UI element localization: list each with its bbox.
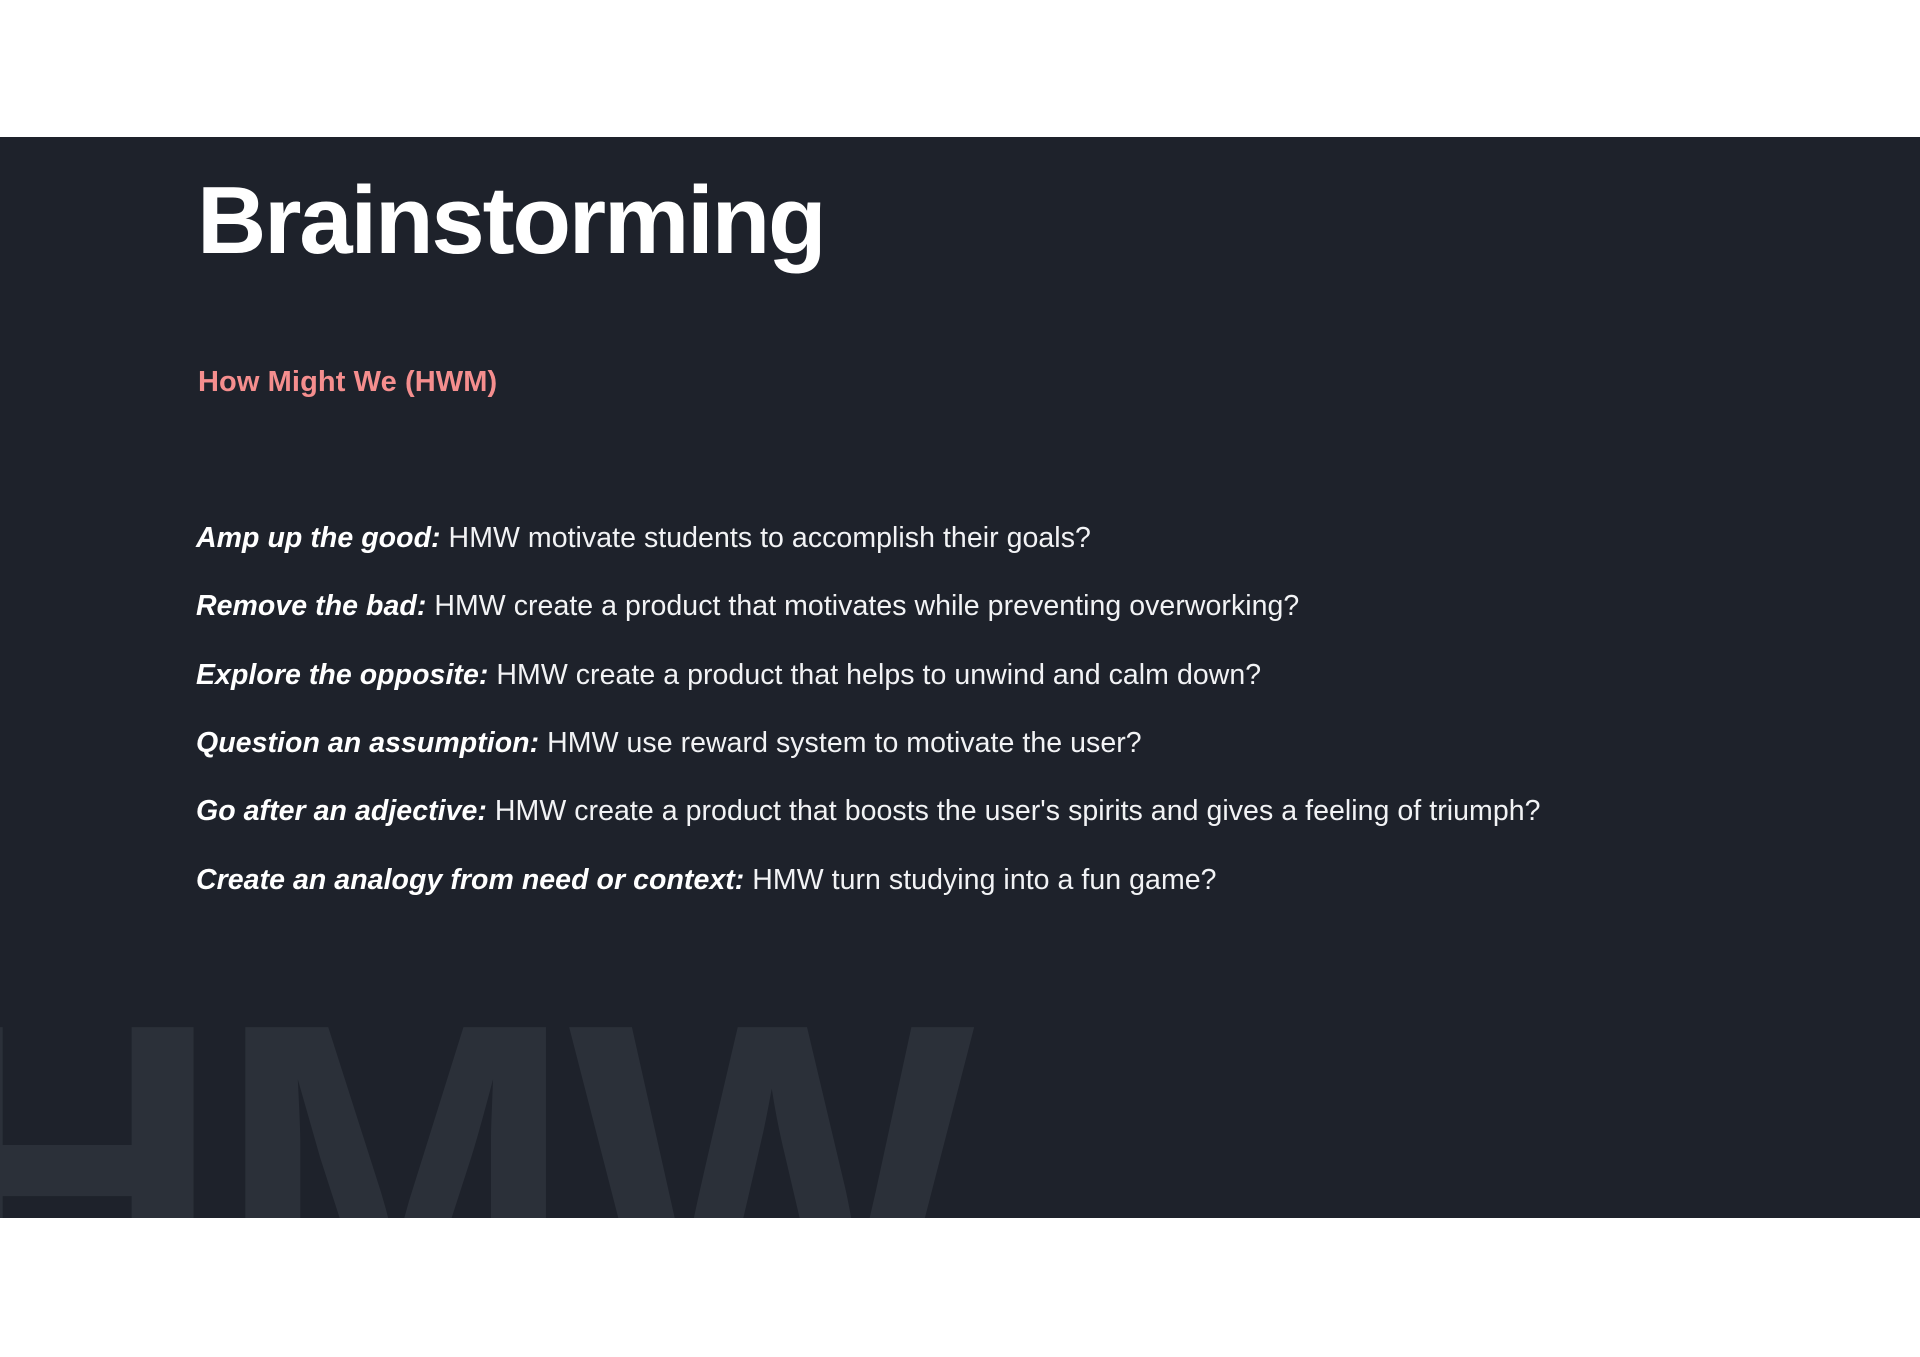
- list-item-text: HMW motivate students to accomplish thei…: [441, 522, 1091, 554]
- list-item-label: Remove the bad:: [196, 590, 426, 622]
- list-item: Question an assumption: HMW use reward s…: [196, 725, 1706, 762]
- list-item-text: HMW use reward system to motivate the us…: [539, 727, 1141, 759]
- page-subtitle: How Might We (HWM): [198, 366, 497, 399]
- list-item-text: HMW create a product that boosts the use…: [487, 795, 1541, 827]
- list-item-text: HMW turn studying into a fun game?: [744, 864, 1216, 896]
- list-item-label: Explore the opposite:: [196, 659, 488, 691]
- list-item-label: Amp up the good:: [196, 522, 441, 554]
- presentation-slide: HMW Brainstorming How Might We (HWM) Amp…: [0, 137, 1920, 1218]
- page-root: HMW Brainstorming How Might We (HWM) Amp…: [0, 0, 1920, 1357]
- hmw-question-list: Amp up the good: HMW motivate students t…: [196, 520, 1706, 899]
- list-item: Go after an adjective: HMW create a prod…: [196, 793, 1706, 830]
- hmw-watermark: HMW: [0, 960, 969, 1218]
- page-title: Brainstorming: [197, 169, 824, 273]
- list-item-text: HMW create a product that motivates whil…: [426, 590, 1299, 622]
- list-item: Explore the opposite: HMW create a produ…: [196, 657, 1706, 694]
- list-item: Amp up the good: HMW motivate students t…: [196, 520, 1706, 557]
- list-item-label: Question an assumption:: [196, 727, 539, 759]
- list-item-label: Go after an adjective:: [196, 795, 487, 827]
- list-item-label: Create an analogy from need or context:: [196, 864, 744, 896]
- list-item-text: HMW create a product that helps to unwin…: [488, 659, 1261, 691]
- list-item: Remove the bad: HMW create a product tha…: [196, 588, 1706, 625]
- list-item: Create an analogy from need or context: …: [196, 862, 1706, 899]
